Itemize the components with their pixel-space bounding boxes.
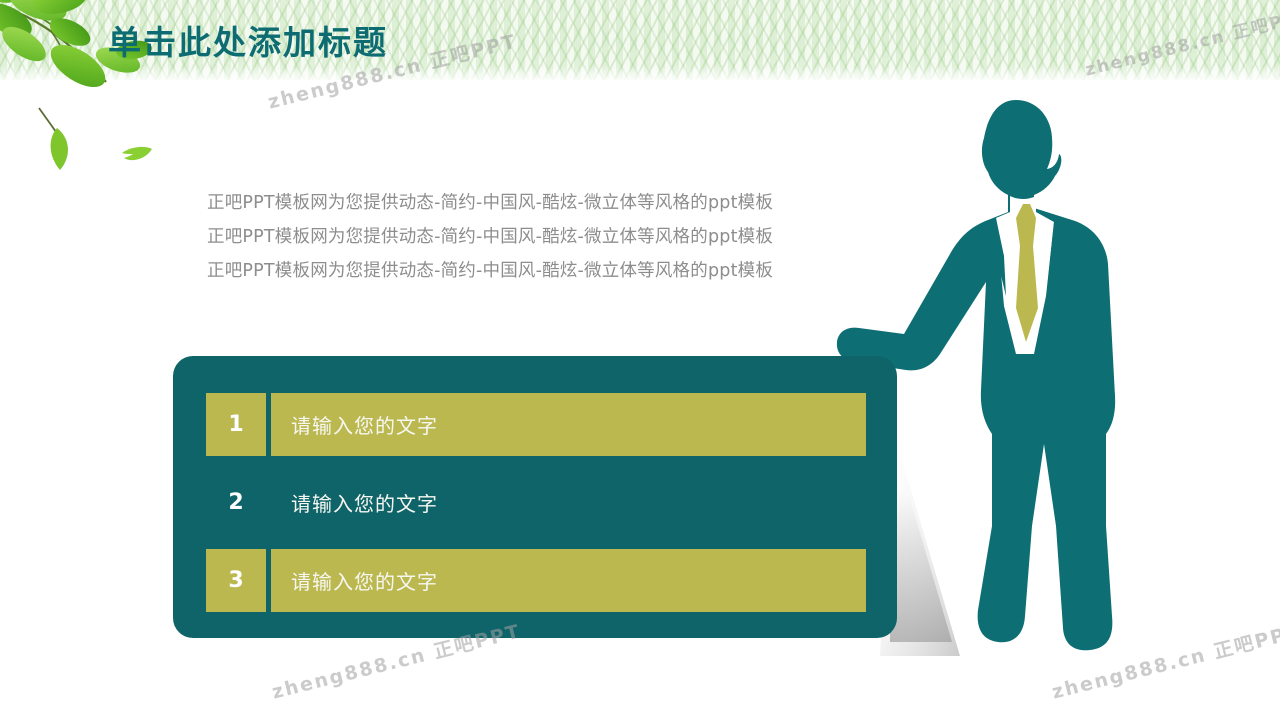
list-item[interactable]: 1 请输入您的文字 <box>206 393 866 456</box>
body-line: 正吧PPT模板网为您提供动态-简约-中国风-酷炫-微立体等风格的ppt模板 <box>207 220 847 254</box>
list-item-number: 3 <box>206 549 266 612</box>
numbered-list-panel: 1 请输入您的文字 2 请输入您的文字 3 请输入您的文字 <box>173 356 897 638</box>
list-item[interactable]: 3 请输入您的文字 <box>206 549 866 612</box>
page-title[interactable]: 单击此处添加标题 <box>108 16 388 64</box>
list-item[interactable]: 2 请输入您的文字 <box>206 471 866 534</box>
slide-canvas: zheng888.cn 正吧PPT zheng888.cn 正吧PPT zhen… <box>0 0 1280 720</box>
body-line: 正吧PPT模板网为您提供动态-简约-中国风-酷炫-微立体等风格的ppt模板 <box>207 254 847 288</box>
leaf-icon <box>36 104 80 178</box>
list-item-text[interactable]: 请输入您的文字 <box>271 549 866 612</box>
list-item-number: 1 <box>206 393 266 456</box>
numbered-list: 1 请输入您的文字 2 请输入您的文字 3 请输入您的文字 <box>206 393 866 612</box>
list-item-text[interactable]: 请输入您的文字 <box>271 471 866 534</box>
list-item-number: 2 <box>206 471 266 534</box>
body-line: 正吧PPT模板网为您提供动态-简约-中国风-酷炫-微立体等风格的ppt模板 <box>207 186 847 220</box>
body-paragraph[interactable]: 正吧PPT模板网为您提供动态-简约-中国风-酷炫-微立体等风格的ppt模板 正吧… <box>207 186 847 288</box>
leaf-icon <box>120 145 154 169</box>
list-item-text[interactable]: 请输入您的文字 <box>271 393 866 456</box>
